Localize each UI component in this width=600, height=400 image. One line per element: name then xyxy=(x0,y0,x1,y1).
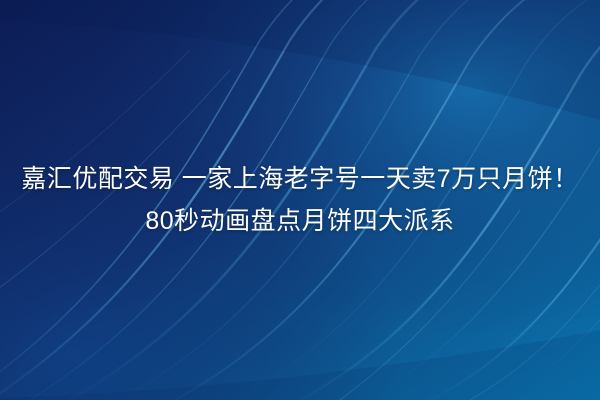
headline-line-2: 80秒动画盘点月饼四大派系 xyxy=(145,200,454,242)
headline-line-1: 嘉汇优配交易 一家上海老字号一天卖7万只月饼！ xyxy=(21,158,578,200)
banner-image: 嘉汇优配交易 一家上海老字号一天卖7万只月饼！ 80秒动画盘点月饼四大派系 xyxy=(0,0,600,400)
banner-headline: 嘉汇优配交易 一家上海老字号一天卖7万只月饼！ 80秒动画盘点月饼四大派系 xyxy=(0,0,600,400)
